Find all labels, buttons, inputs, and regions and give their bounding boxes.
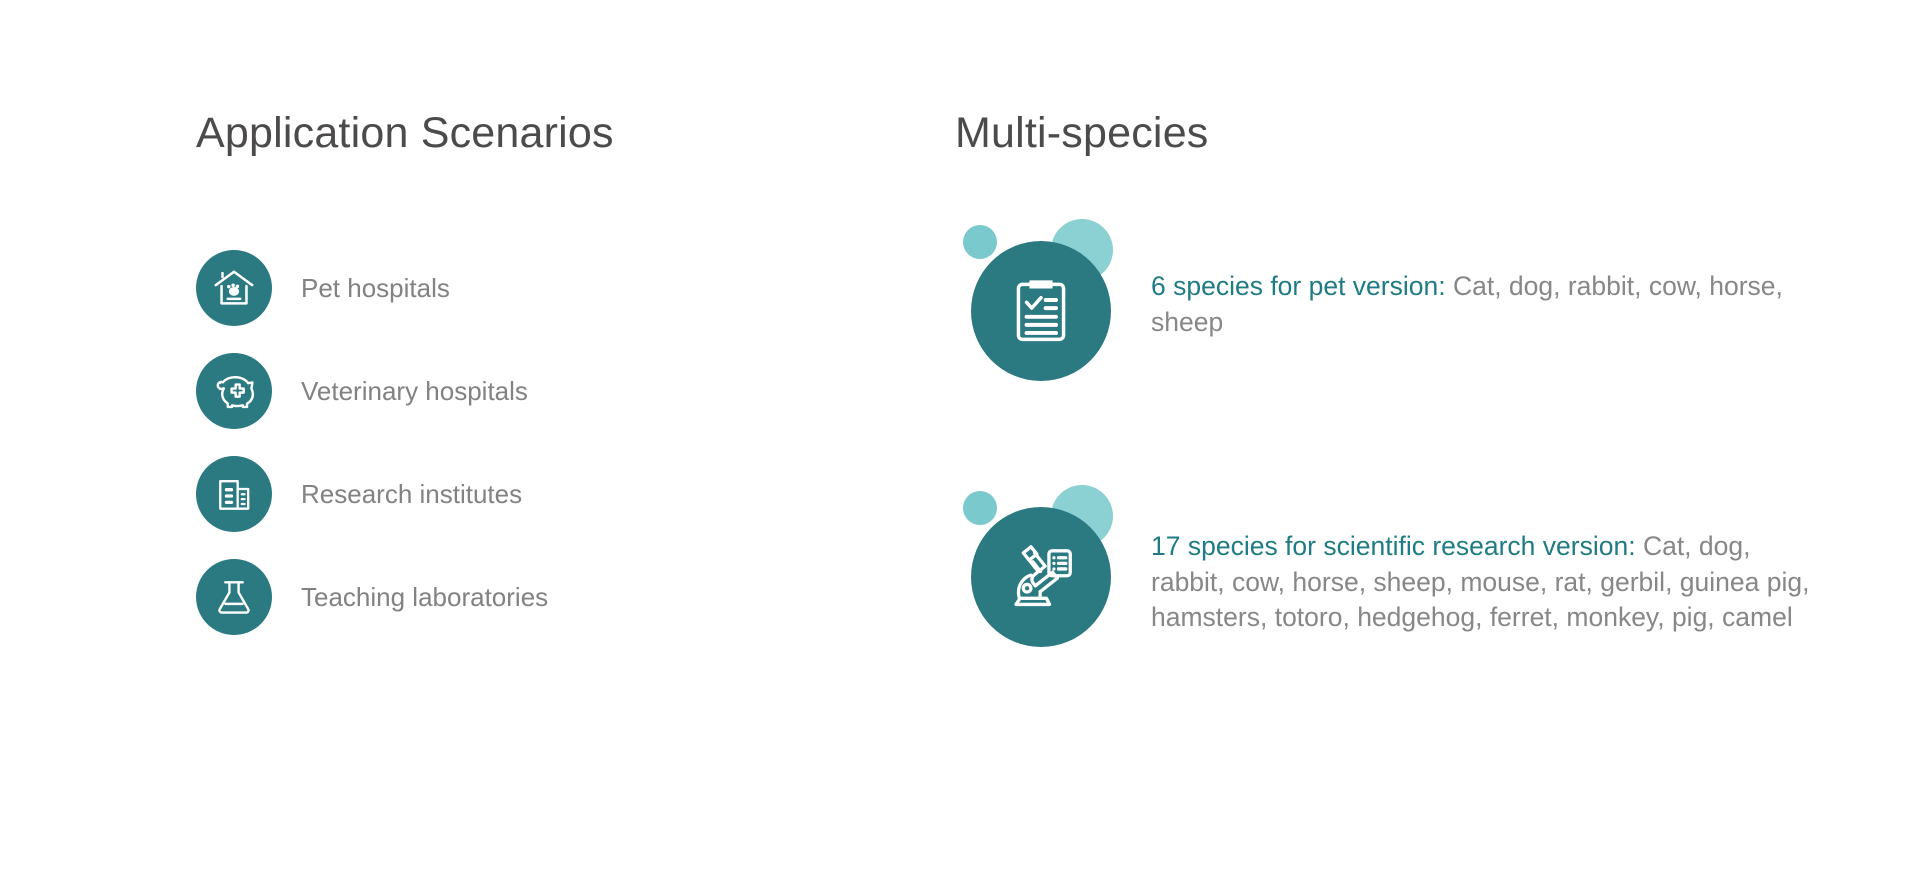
multi-species-column: Multi-species (955, 110, 1825, 647)
species-item-pet-version[interactable]: 6 species for pet version: Cat, dog, rab… (955, 227, 1825, 381)
application-scenarios-column: Application Scenarios Pet h (196, 110, 916, 635)
institute-building-icon (196, 456, 272, 532)
species-item-research-version[interactable]: 17 species for scientific research versi… (955, 493, 1825, 647)
species-description: 17 species for scientific research versi… (1151, 493, 1825, 635)
scenario-item-teaching-laboratories[interactable]: Teaching laboratories (196, 559, 916, 635)
scenario-label: Teaching laboratories (301, 581, 548, 614)
scenario-label: Pet hospitals (301, 272, 450, 305)
scenario-item-research-institutes[interactable]: Research institutes (196, 456, 916, 532)
scenario-item-pet-hospitals[interactable]: Pet hospitals (196, 250, 916, 326)
species-list: 6 species for pet version: Cat, dog, rab… (955, 227, 1825, 647)
microscope-document-icon (971, 507, 1111, 647)
species-description: 6 species for pet version: Cat, dog, rab… (1151, 227, 1825, 339)
species-lead: 17 species for scientific research versi… (1151, 531, 1636, 561)
species-lead: 6 species for pet version: (1151, 271, 1446, 301)
accent-circle-small (963, 225, 997, 259)
slide-root: Application Scenarios Pet h (0, 0, 1920, 880)
scenario-label: Veterinary hospitals (301, 375, 528, 408)
clipboard-checklist-icon (971, 241, 1111, 381)
scenario-item-veterinary-hospitals[interactable]: Veterinary hospitals (196, 353, 916, 429)
application-scenarios-heading: Application Scenarios (196, 110, 916, 157)
accent-circle-small (963, 491, 997, 525)
species-badge-group (955, 485, 1117, 647)
scenario-label: Research institutes (301, 478, 522, 511)
pet-house-paw-icon (196, 250, 272, 326)
species-badge-group (955, 219, 1117, 381)
flask-icon (196, 559, 272, 635)
multi-species-heading: Multi-species (955, 110, 1825, 157)
pig-medical-cross-icon (196, 353, 272, 429)
scenario-list: Pet hospitals Veterinary hospitals (196, 250, 916, 635)
